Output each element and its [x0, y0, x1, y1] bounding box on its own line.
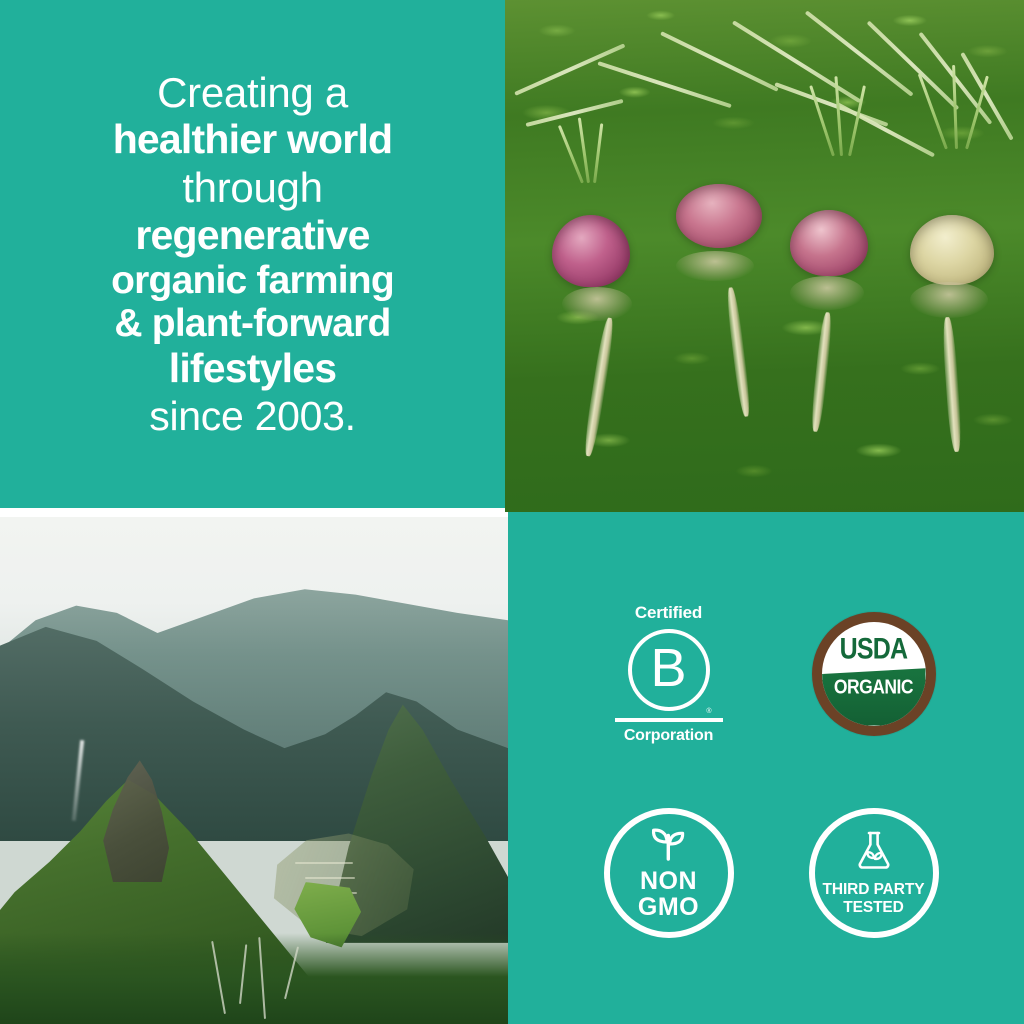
headline-line-6: & plant-forward: [114, 302, 390, 346]
third-party-tested-badge: THIRD PARTY TESTED: [809, 808, 939, 938]
turnip-white: [910, 215, 994, 285]
headline-text-block: Creating a healthier world through regen…: [0, 0, 505, 508]
b-corp-letter: B: [650, 641, 686, 695]
mountain-photo-base: [0, 517, 508, 1024]
usda-top-half: USDA: [822, 622, 926, 669]
flask-leaf-icon: [852, 829, 896, 878]
registered-trademark-icon: ®: [706, 708, 711, 715]
b-corp-divider-rule: [615, 718, 723, 722]
third-party-tested-line-2: TESTED: [843, 899, 904, 916]
headline-line-1: Creating a: [157, 68, 348, 118]
b-corp-certified-label: Certified: [635, 603, 702, 623]
third-party-tested-line-1: THIRD PARTY: [823, 881, 925, 898]
foreground-scrub: [0, 933, 508, 1024]
brand-mission-graphic: Creating a healthier world through regen…: [0, 0, 1024, 1024]
vegetable-photo-base: [505, 0, 1024, 512]
certification-badge-grid: Certified B ® Corporation USDA ORGANIC: [508, 512, 1024, 1024]
non-gmo-badge: NON GMO: [604, 808, 734, 938]
radish-3: [790, 210, 868, 276]
headline-panel: Creating a healthier world through regen…: [0, 0, 505, 508]
usda-bottom-field: ORGANIC: [822, 668, 926, 725]
usda-seal-inner: USDA ORGANIC: [822, 622, 926, 726]
headline-line-5: organic farming: [111, 259, 394, 303]
machu-picchu-photo: [0, 517, 508, 1024]
radish-1: [552, 215, 630, 287]
b-corp-corporation-label: Corporation: [624, 727, 713, 745]
non-gmo-line-2: GMO: [638, 895, 699, 921]
usda-label: USDA: [840, 633, 908, 667]
b-corporation-badge: Certified B ® Corporation: [615, 603, 723, 745]
headline-line-2: healthier world: [113, 117, 393, 163]
headline-line-4: regenerative: [135, 213, 369, 259]
sprout-leaf-icon: [646, 825, 692, 866]
headline-line-8: since 2003.: [149, 392, 355, 440]
b-corp-circle-icon: B ®: [628, 629, 710, 711]
organic-label: ORGANIC: [834, 675, 913, 699]
headline-line-3: through: [182, 163, 322, 213]
headline-line-7: lifestyles: [169, 346, 337, 392]
radishes-on-greens-photo: [505, 0, 1024, 512]
usda-organic-seal: USDA ORGANIC: [812, 612, 936, 736]
non-gmo-line-1: NON: [640, 869, 697, 895]
